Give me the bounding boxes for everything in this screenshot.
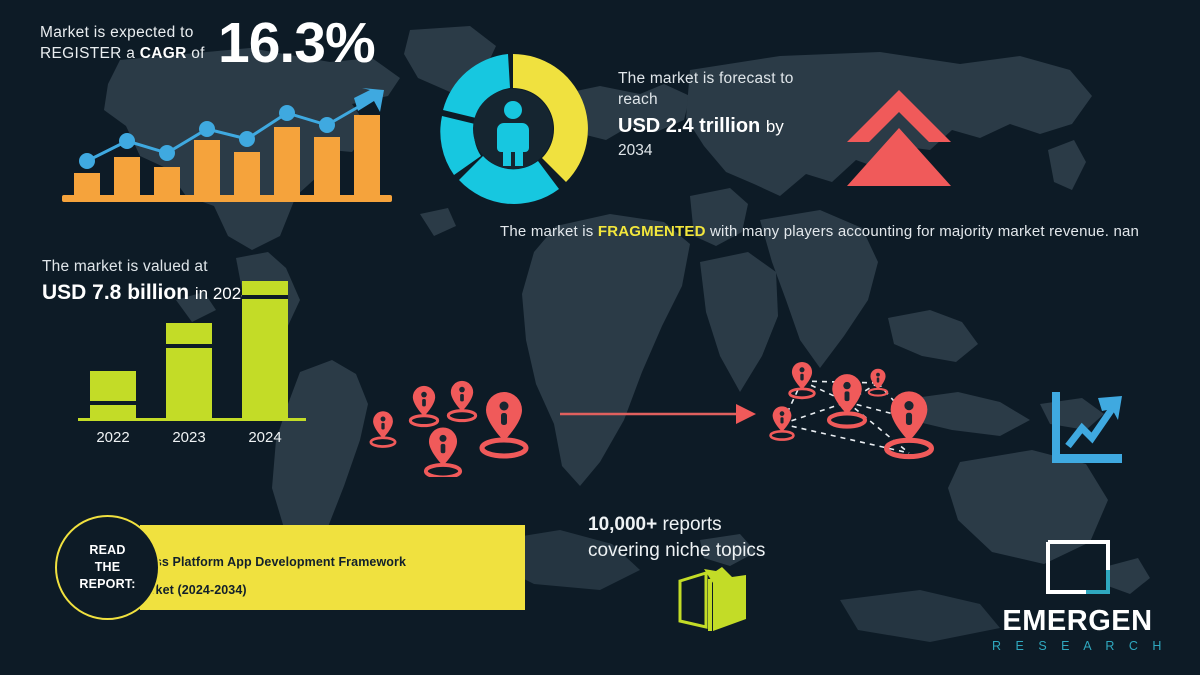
forecast-lead: The market is forecast to reach — [618, 68, 878, 110]
yearly-value-chart: 2022 2023 2024 — [62, 270, 312, 450]
cagr-line2-post: of — [187, 45, 205, 62]
forecast-value-lite: by — [766, 117, 784, 136]
read-report-badge[interactable]: READ THE REPORT: — [55, 515, 160, 620]
cagr-line2-pre: REGISTER a — [40, 45, 140, 62]
growth-chart-icon — [62, 82, 392, 207]
fragmented-text: The market is FRAGMENTED with many playe… — [500, 220, 1140, 244]
right-arrow-icon — [560, 400, 760, 428]
reports-count: 10,000+ — [588, 514, 657, 535]
brand-logo: EMERGEN R E S E A R C H — [985, 536, 1170, 641]
cta-line2: THE — [95, 560, 121, 574]
open-book-icon — [676, 565, 750, 633]
cta-line1: READ — [89, 543, 125, 557]
reports-count-line: 10,000+ reports — [588, 512, 818, 538]
year-label-2023: 2023 — [172, 429, 205, 446]
growth-arrow-icon — [1046, 390, 1128, 468]
map-pin-cluster-right — [752, 358, 974, 480]
forecast-lead-line2: reach — [618, 91, 658, 108]
brand-subtitle: R E S E A R C H — [985, 637, 1170, 655]
forecast-value-bold: USD 2.4 trillion — [618, 115, 760, 137]
fragmented-post: with many players accounting for majorit… — [706, 223, 1139, 240]
cta-line3: REPORT: — [79, 577, 135, 591]
reports-subtitle: covering niche topics — [588, 538, 818, 564]
cagr-block: Market is expected to REGISTER a CAGR of… — [40, 16, 400, 64]
fragmented-block: The market is FRAGMENTED with many playe… — [500, 220, 1140, 244]
fragmented-pre: The market is — [500, 223, 598, 240]
double-up-chevron-icon — [845, 88, 953, 188]
report-title-line1: Cross Platform App Development Framework — [133, 555, 406, 569]
forecast-value: USD 2.4 trillion by — [618, 112, 878, 141]
infographic-canvas: Market is expected to REGISTER a CAGR of… — [0, 0, 1200, 675]
emergen-square-mark-icon — [1042, 536, 1114, 598]
reports-block: 10,000+ reports covering niche topics — [588, 512, 818, 564]
fragmented-highlight: FRAGMENTED — [598, 223, 706, 240]
year-label-2022: 2022 — [96, 429, 129, 446]
read-the-report-cta[interactable]: Cross Platform App Development Framework… — [55, 525, 525, 610]
read-report-badge-label: READ THE REPORT: — [79, 542, 135, 593]
map-pin-cluster-left — [352, 362, 572, 477]
cagr-line1: Market is expected to — [40, 24, 194, 41]
report-title: Cross Platform App Development Framework… — [133, 548, 423, 604]
cagr-description: Market is expected to REGISTER a CAGR of — [40, 16, 220, 64]
year-label-2024: 2024 — [248, 429, 281, 446]
forecast-block: The market is forecast to reach USD 2.4 … — [618, 68, 878, 161]
forecast-year: 2034 — [618, 141, 878, 161]
brand-name: EMERGEN — [985, 605, 1170, 637]
donut-person-icon — [432, 48, 594, 210]
reports-count-suffix: reports — [657, 514, 721, 535]
forecast-lead-line1: The market is forecast to — [618, 70, 794, 87]
cagr-line2-bold: CAGR — [140, 45, 187, 62]
cagr-value: 16.3% — [218, 8, 375, 78]
